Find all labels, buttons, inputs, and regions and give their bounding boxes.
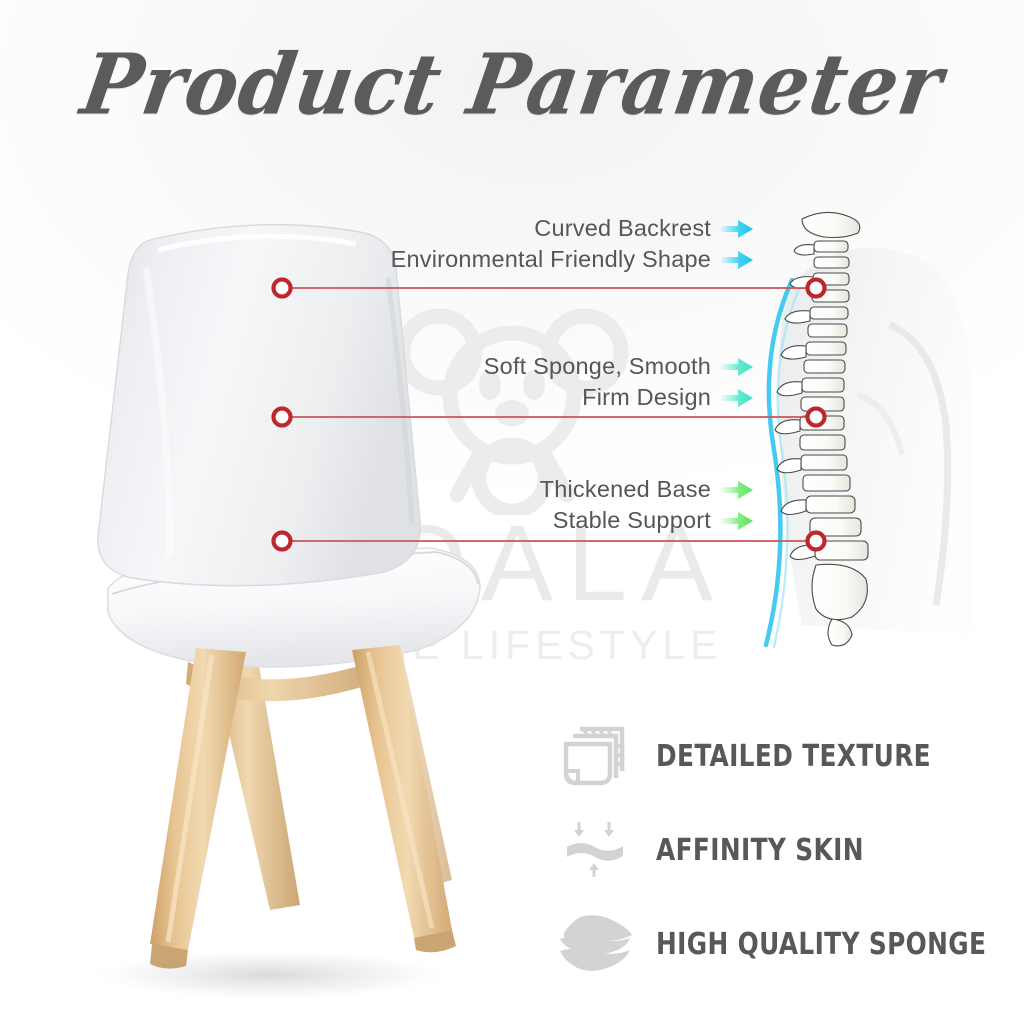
callout-line: Environmental Friendly Shape <box>391 244 754 275</box>
page-title-wrapper: Product Parameter <box>0 38 1024 131</box>
feature-list: DETAILED TEXTURE AFFINITY SKIN <box>556 712 976 988</box>
feature-item-affinity-skin: AFFINITY SKIN <box>556 806 976 894</box>
callout-label: Firm Design <box>582 382 711 413</box>
marker-right-2 <box>808 409 825 426</box>
callout-label: Environmental Friendly Shape <box>391 244 711 275</box>
feature-label: DETAILED TEXTURE <box>656 739 931 774</box>
arrow-right-icon <box>720 511 754 531</box>
callout-line: Stable Support <box>540 505 754 536</box>
marker-left-3 <box>274 533 291 550</box>
arrow-right-icon <box>720 250 754 270</box>
marker-left-2 <box>274 409 291 426</box>
callout-label: Soft Sponge, Smooth <box>484 351 711 382</box>
callout-soft-sponge: Soft Sponge, Smooth Firm Design <box>484 351 754 413</box>
feature-item-detailed-texture: DETAILED TEXTURE <box>556 712 976 800</box>
callout-line: Thickened Base <box>540 474 754 505</box>
feature-label: AFFINITY SKIN <box>656 833 864 868</box>
wavy-cushion-pressure-icon <box>556 811 634 889</box>
infographic-canvas: KOALA HOME LIFESTYLE Product Parameter <box>0 0 1024 1024</box>
marker-left-1 <box>274 280 291 297</box>
arrow-right-icon <box>720 388 754 408</box>
callout-label: Thickened Base <box>540 474 711 505</box>
arrow-right-icon <box>720 480 754 500</box>
callout-label: Curved Backrest <box>534 213 711 244</box>
marker-right-3 <box>808 533 825 550</box>
callout-label: Stable Support <box>553 505 711 536</box>
stacked-sheets-icon <box>556 717 634 795</box>
arrow-right-icon <box>720 357 754 377</box>
callout-line: Firm Design <box>484 382 754 413</box>
feature-item-high-quality-sponge: HIGH QUALITY SPONGE <box>556 900 976 988</box>
marker-right-1 <box>808 280 825 297</box>
arrow-right-icon <box>720 219 754 239</box>
callout-line: Soft Sponge, Smooth <box>484 351 754 382</box>
feature-label: HIGH QUALITY SPONGE <box>656 927 986 962</box>
page-title: Product Parameter <box>75 35 950 134</box>
layered-sponge-icon <box>556 905 634 983</box>
callout-curved-backrest: Curved Backrest Environmental Friendly S… <box>391 213 754 275</box>
callout-thickened-base: Thickened Base Stable Support <box>540 474 754 536</box>
callout-line: Curved Backrest <box>391 213 754 244</box>
